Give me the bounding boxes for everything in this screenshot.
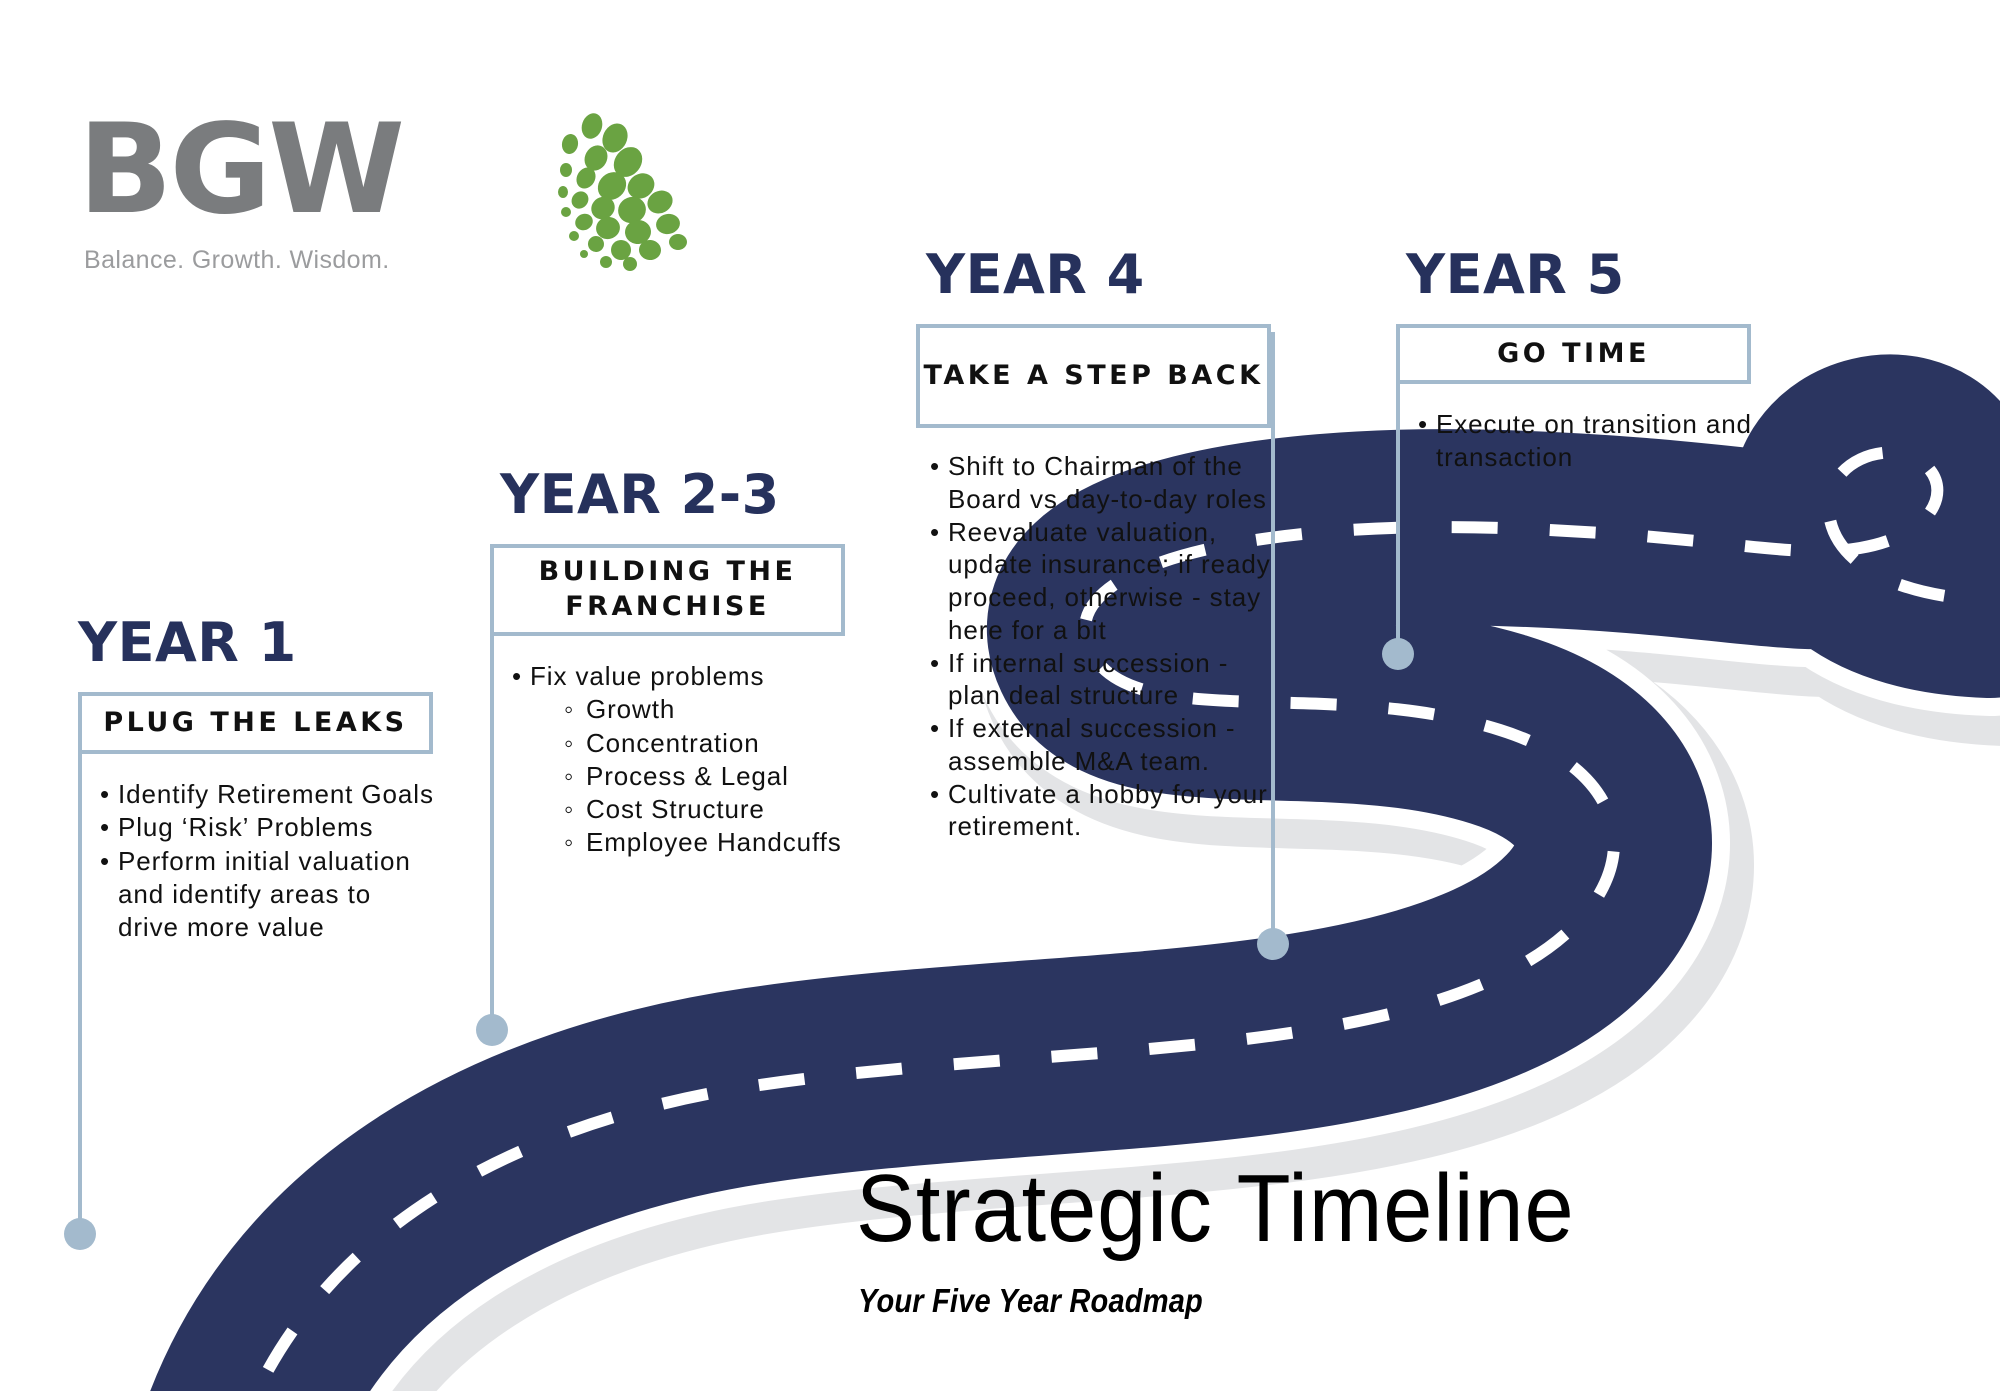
bullet-item: Execute on transition and transaction <box>1414 408 1766 475</box>
page-title: Strategic Timeline <box>856 1154 1575 1264</box>
leaf-swoosh-icon <box>508 104 698 274</box>
year-1-block: YEAR 1 PLUG THE LEAKS Identify Retiremen… <box>78 616 438 944</box>
bullet-item: Perform initial valuation and identify a… <box>96 845 438 945</box>
sub-bullet-item: Cost Structure <box>564 793 860 826</box>
year-2-3-title: YEAR 2-3 <box>500 468 860 522</box>
year-4-headline-box: TAKE A STEP BACK <box>916 324 1271 428</box>
year-2-3-headline: BUILDING THE FRANCHISE <box>494 555 841 624</box>
bullet-item: If external succession - assemble M&A te… <box>926 712 1286 778</box>
bullet-item: Identify Retirement Goals <box>96 778 438 811</box>
bullet-text: If external succession - assemble M&A te… <box>948 713 1236 776</box>
bullet-item: Cultivate a hobby for your retirement. <box>926 778 1286 844</box>
year-5-connector-line <box>1396 332 1400 654</box>
year-5-bullet-list: Execute on transition and transaction <box>1414 408 1766 475</box>
sub-bullet-item: Growth <box>564 693 860 726</box>
year-4-title: YEAR 4 <box>926 248 1286 302</box>
logo-wordmark: BGW <box>78 108 402 232</box>
bullet-text: If internal succession - plan deal struc… <box>948 648 1228 711</box>
year-4-connector-dot <box>1257 928 1289 960</box>
year-1-headline-box: PLUG THE LEAKS <box>78 692 433 754</box>
year-2-3-connector-dot <box>476 1014 508 1046</box>
year-5-headline: GO TIME <box>1497 337 1650 372</box>
year-2-3-bullet-list: Fix value problemsGrowthConcentrationPro… <box>508 660 860 860</box>
sub-bullet-item: Process & Legal <box>564 760 860 793</box>
bullet-item: Plug ‘Risk’ Problems <box>96 811 438 844</box>
year-2-3-headline-box: BUILDING THE FRANCHISE <box>490 544 845 636</box>
bullet-text: Cultivate a hobby for your retirement. <box>948 779 1268 842</box>
logo-tagline: Balance. Growth. Wisdom. <box>84 246 390 275</box>
year-1-connector-dot <box>64 1218 96 1250</box>
bullet-item: Reevaluate valuation, update insurance; … <box>926 516 1286 647</box>
bullet-text: Reevaluate valuation, update insurance; … <box>948 517 1277 645</box>
sub-bullet-list: GrowthConcentrationProcess & LegalCost S… <box>530 693 860 859</box>
year-1-headline: PLUG THE LEAKS <box>103 706 407 741</box>
year-2-3-block: YEAR 2-3 BUILDING THE FRANCHISE Fix valu… <box>490 468 860 860</box>
bgw-logo: BGW Balance. Growth. Wisdom. <box>78 108 618 278</box>
year-4-headline: TAKE A STEP BACK <box>924 359 1264 394</box>
bullet-text: Perform initial valuation and identify a… <box>118 846 411 943</box>
sub-bullet-item: Employee Handcuffs <box>564 826 860 859</box>
year-1-bullet-list: Identify Retirement GoalsPlug ‘Risk’ Pro… <box>96 778 438 944</box>
bullet-item: If internal succession - plan deal struc… <box>926 647 1286 713</box>
year-5-headline-box: GO TIME <box>1396 324 1751 384</box>
year-4-block: YEAR 4 TAKE A STEP BACK Shift to Chairma… <box>916 248 1286 843</box>
year-1-connector-line <box>78 700 82 1238</box>
year-4-connector-line <box>1271 332 1275 944</box>
year-5-title: YEAR 5 <box>1406 248 1766 302</box>
year-4-bullet-list: Shift to Chairman of the Board vs day-to… <box>926 450 1286 843</box>
bullet-text: Execute on transition and transaction <box>1436 409 1752 472</box>
bullet-item: Fix value problemsGrowthConcentrationPro… <box>508 660 860 860</box>
bullet-text: Shift to Chairman of the Board vs day-to… <box>948 451 1267 514</box>
year-5-connector-dot <box>1382 638 1414 670</box>
year-1-title: YEAR 1 <box>78 616 438 670</box>
bullet-item: Shift to Chairman of the Board vs day-to… <box>926 450 1286 516</box>
page-subtitle: Your Five Year Roadmap <box>858 1282 1203 1320</box>
bullet-text: Fix value problems <box>530 661 764 691</box>
year-5-block: YEAR 5 GO TIME Execute on transition and… <box>1396 248 1766 475</box>
bullet-text: Plug ‘Risk’ Problems <box>118 812 373 842</box>
sub-bullet-item: Concentration <box>564 727 860 760</box>
bullet-text: Identify Retirement Goals <box>118 779 434 809</box>
year-2-3-connector-line <box>490 552 494 1034</box>
